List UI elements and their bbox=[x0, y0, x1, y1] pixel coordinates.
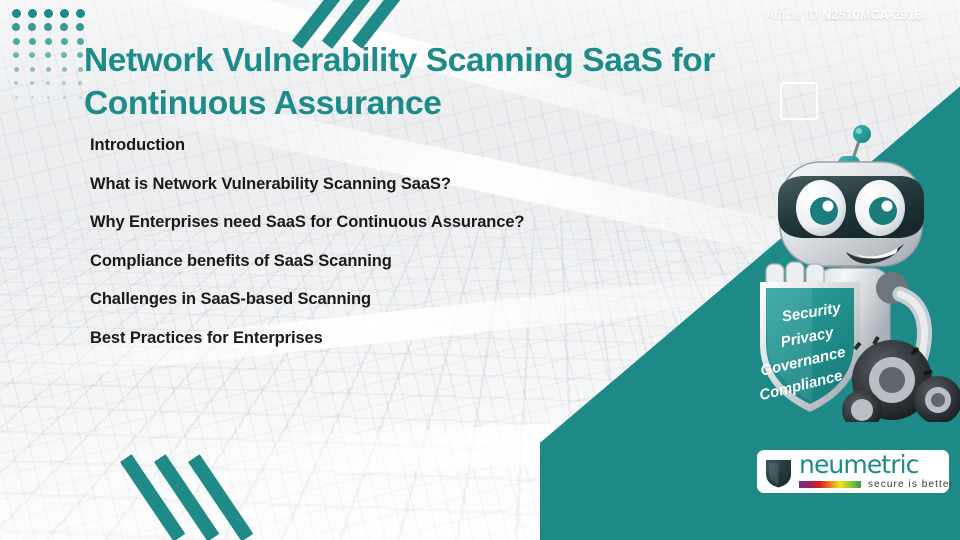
dot-grid-row bbox=[8, 6, 88, 20]
dot-grid-dot bbox=[78, 81, 82, 85]
dot-grid-row bbox=[8, 62, 88, 76]
dot-grid-row bbox=[8, 20, 88, 34]
dot-grid-row bbox=[8, 48, 88, 62]
dot-grid-dot bbox=[30, 67, 35, 72]
dot-grid-dot bbox=[29, 52, 35, 58]
dot-grid-dot bbox=[47, 96, 50, 99]
dot-grid-dot bbox=[79, 96, 82, 99]
dot-grid-dot bbox=[28, 9, 37, 18]
logo-shield-icon bbox=[764, 456, 793, 488]
dot-grid-dot bbox=[63, 96, 66, 99]
neumetric-logo[interactable]: neumetric secure is better bbox=[757, 450, 949, 493]
toc-item[interactable]: What is Network Vulnerability Scanning S… bbox=[90, 175, 690, 194]
toc-item[interactable]: Why Enterprises need SaaS for Continuous… bbox=[90, 213, 690, 232]
dot-grid-dot bbox=[30, 81, 34, 85]
dot-grid-dot bbox=[61, 38, 68, 45]
dot-grid-dot bbox=[77, 52, 83, 58]
dot-grid-dot bbox=[62, 67, 67, 72]
dot-grid-dot bbox=[61, 52, 67, 58]
dot-grid-dot bbox=[78, 67, 83, 72]
toc-item[interactable]: Challenges in SaaS-based Scanning bbox=[90, 290, 690, 309]
dot-grid-dot bbox=[13, 52, 19, 58]
dot-grid-dot bbox=[44, 9, 53, 18]
dot-grid-row bbox=[8, 76, 88, 90]
article-id: Article ID N2510MCA-2918 bbox=[766, 8, 922, 22]
dot-grid-row bbox=[8, 90, 88, 104]
robot-mascot-illustration: Security Privacy Governance Compliance bbox=[742, 112, 960, 422]
toc-item[interactable]: Compliance benefits of SaaS Scanning bbox=[90, 252, 690, 271]
dot-grid-dot bbox=[62, 81, 66, 85]
dot-grid-dot bbox=[45, 52, 51, 58]
article-id-label: Article ID bbox=[766, 8, 819, 22]
dot-grid-dot bbox=[46, 81, 50, 85]
dot-grid-dot bbox=[46, 67, 51, 72]
table-of-contents: IntroductionWhat is Network Vulnerabilit… bbox=[90, 136, 690, 367]
dot-grid-dot bbox=[44, 23, 52, 31]
dot-grid-dot bbox=[31, 96, 34, 99]
dot-grid-dot bbox=[29, 38, 36, 45]
dot-grid-dot bbox=[12, 9, 21, 18]
article-id-value: N2510MCA-2918 bbox=[822, 8, 922, 22]
logo-tagline-row: secure is better bbox=[799, 479, 954, 490]
page-title: Network Vulnerability Scanning SaaS for … bbox=[84, 40, 824, 126]
logo-rainbow-bar bbox=[799, 481, 861, 488]
dot-grid-dot bbox=[12, 23, 20, 31]
logo-wordmark: neumetric bbox=[799, 453, 954, 477]
dot-grid-dot bbox=[14, 67, 19, 72]
dot-grid-dot bbox=[76, 23, 84, 31]
dot-grid-dot bbox=[28, 23, 36, 31]
logo-tagline: secure is better bbox=[868, 479, 954, 490]
dot-grid-dot bbox=[13, 38, 20, 45]
dot-grid-dot bbox=[14, 81, 18, 85]
dot-grid-dot bbox=[77, 38, 84, 45]
dot-grid-dot bbox=[60, 23, 68, 31]
diagonal-stripes-bottom bbox=[120, 462, 280, 540]
dot-grid-dot bbox=[15, 96, 18, 99]
dot-grid-row bbox=[8, 34, 88, 48]
toc-item[interactable]: Best Practices for Enterprises bbox=[90, 329, 690, 348]
toc-item[interactable]: Introduction bbox=[90, 136, 690, 155]
dot-grid-dot bbox=[45, 38, 52, 45]
slide-canvas: Article ID N2510MCA-2918 Network Vulnera… bbox=[0, 0, 960, 540]
dot-grid-decoration bbox=[8, 6, 88, 104]
logo-text-block: neumetric secure is better bbox=[799, 453, 954, 490]
dot-grid-dot bbox=[76, 9, 85, 18]
dot-grid-dot bbox=[60, 9, 69, 18]
